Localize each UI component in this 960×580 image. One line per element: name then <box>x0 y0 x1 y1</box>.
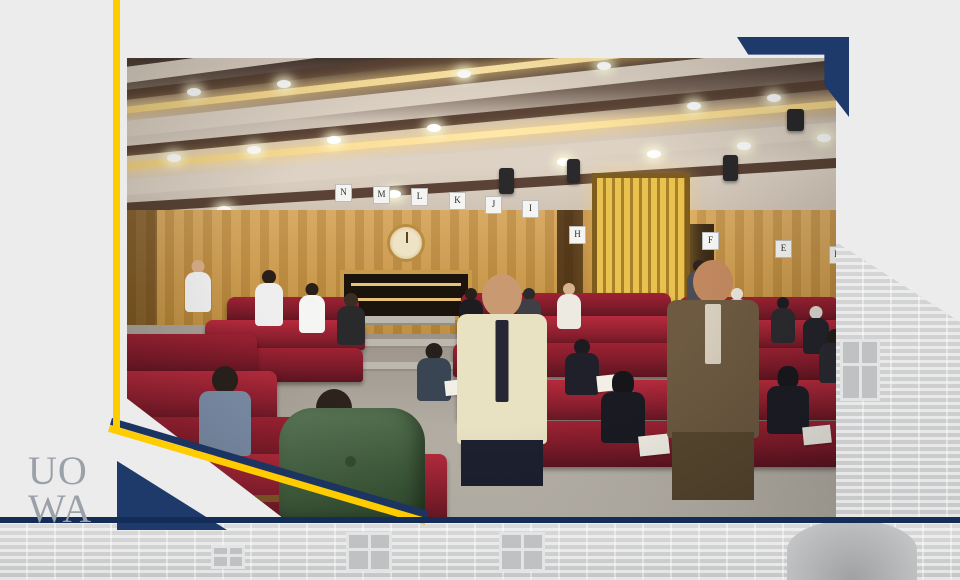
page-stage: F E D H I J K L M N <box>0 0 960 580</box>
logo-line-2: WA <box>28 490 92 528</box>
yellow-vertical-accent <box>113 0 120 432</box>
navy-divider-rule <box>0 517 960 523</box>
campus-shrub <box>787 520 917 580</box>
campus-window <box>211 545 245 569</box>
campus-window <box>499 532 545 572</box>
background-campus-strip <box>0 522 960 580</box>
campus-artwork-lower <box>0 522 960 580</box>
campus-window <box>346 532 392 572</box>
lecture-hall-exam-photo: F E D H I J K L M N <box>127 58 836 518</box>
campus-window <box>840 339 880 401</box>
uowa-logo: UO WA <box>28 452 92 528</box>
logo-line-1: UO <box>28 452 92 490</box>
photo-vignette <box>127 58 836 518</box>
